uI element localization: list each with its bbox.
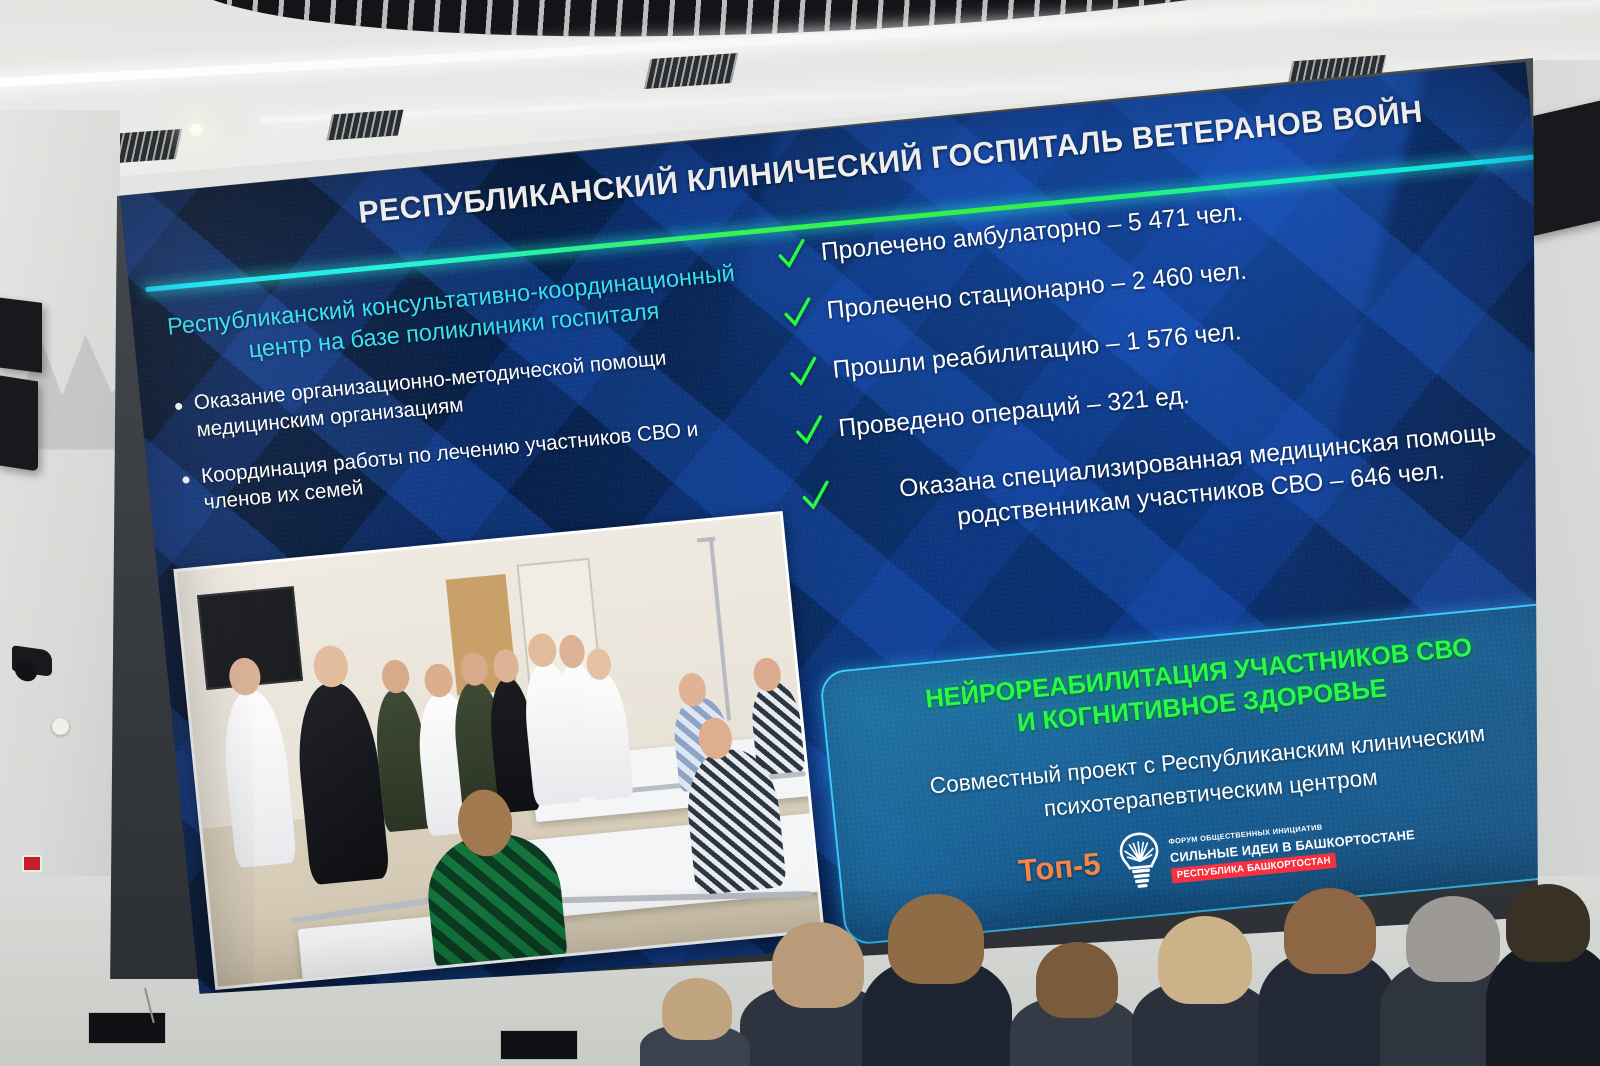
stat-text: Пролечено стационарно – 2 460 чел. <box>825 254 1248 329</box>
forum-logo: ФОРУМ ОБЩЕСТВЕННЫХ ИНИЦИАТИВ СИЛЬНЫЕ ИДЕ… <box>1115 805 1417 892</box>
audience-person-head <box>1406 896 1500 982</box>
rank-badge: Топ-5 <box>1017 846 1102 890</box>
forum-logo-text: ФОРУМ ОБЩЕСТВЕННЫХ ИНИЦИАТИВ СИЛЬНЫЕ ИДЕ… <box>1167 808 1417 884</box>
audience-person-head <box>888 894 984 984</box>
bullet-dot-icon <box>175 403 183 411</box>
audience-person-head <box>1036 942 1118 1018</box>
audience-person-head <box>1158 916 1252 1004</box>
fire-alarm-button[interactable] <box>22 855 42 872</box>
audience-person-head <box>772 922 864 1008</box>
conference-hall-scene: РЕСПУБЛИКАНСКИЙ КЛИНИЧЕСКИЙ ГОСПИТАЛЬ ВЕ… <box>0 0 1600 1066</box>
downlight-icon <box>190 124 202 136</box>
security-camera-icon <box>12 645 52 677</box>
audience <box>0 886 1600 1066</box>
led-video-wall[interactable]: РЕСПУБЛИКАНСКИЙ КЛИНИЧЕСКИЙ ГОСПИТАЛЬ ВЕ… <box>60 24 1538 979</box>
check-icon <box>800 478 833 515</box>
audience-person-head <box>662 978 732 1040</box>
presentation-slide: РЕСПУБЛИКАНСКИЙ КЛИНИЧЕСКИЙ ГОСПИТАЛЬ ВЕ… <box>120 62 1600 1008</box>
check-icon <box>787 354 820 391</box>
motion-sensor-icon <box>52 718 69 735</box>
stat-text: Прошли реабилитацию – 1 576 чел. <box>831 314 1243 388</box>
statistics-checklist: Пролечено амбулаторно – 5 471 чел. Проле… <box>776 168 1558 573</box>
wall-speaker-icon <box>1526 98 1600 237</box>
wall-speaker-icon <box>0 297 42 373</box>
audience-person-head <box>1284 888 1376 974</box>
lightbulb-icon <box>1115 829 1165 892</box>
check-icon <box>793 413 826 450</box>
stat-text: Проведено операций – 321 ед. <box>837 378 1191 446</box>
bullet-dot-icon <box>182 476 190 484</box>
wall-speaker-icon <box>0 375 38 472</box>
ceiling-vent-icon <box>327 110 404 141</box>
check-icon <box>781 295 814 332</box>
audience-person-head <box>1506 884 1590 962</box>
check-icon <box>776 236 809 273</box>
